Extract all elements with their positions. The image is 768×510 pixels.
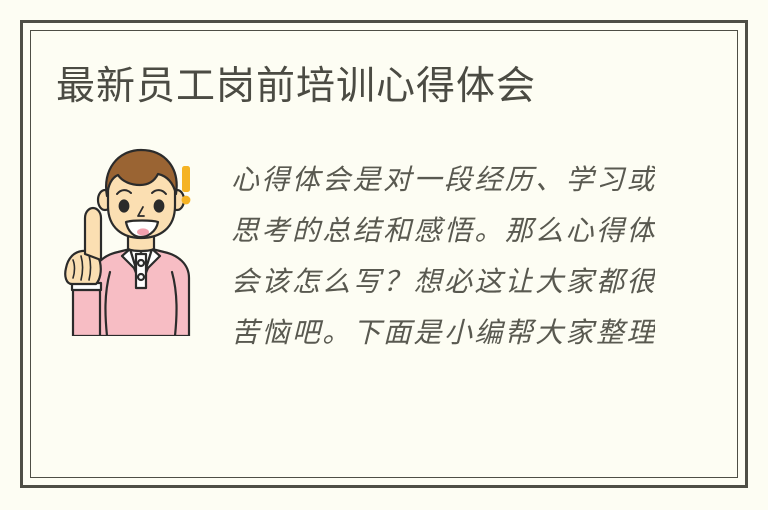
exclamation-mark-icon [182, 166, 191, 204]
cartoon-man-svg [60, 144, 210, 336]
index-finger [85, 208, 101, 260]
illustration-cartoon-man-pointing [60, 144, 210, 336]
page-title: 最新员工岗前培训心得体会 [56, 62, 536, 112]
document-page: 最新员工岗前培训心得体会 [0, 0, 768, 510]
shirt-button-top [138, 260, 144, 266]
article-body-text: 心得体会是对一段经历、学习或思考的总结和感悟。那么心得体会该怎么写？想必这让大家… [231, 154, 655, 369]
arm-sleeve-left [73, 288, 100, 336]
shirt-button-bottom [138, 274, 144, 280]
content-row: 心得体会是对一段经历、学习或思考的总结和感悟。那么心得体会该怎么写？想必这让大家… [0, 142, 768, 402]
eye-right [154, 199, 165, 212]
eye-left [119, 199, 130, 212]
tongue [137, 228, 149, 235]
